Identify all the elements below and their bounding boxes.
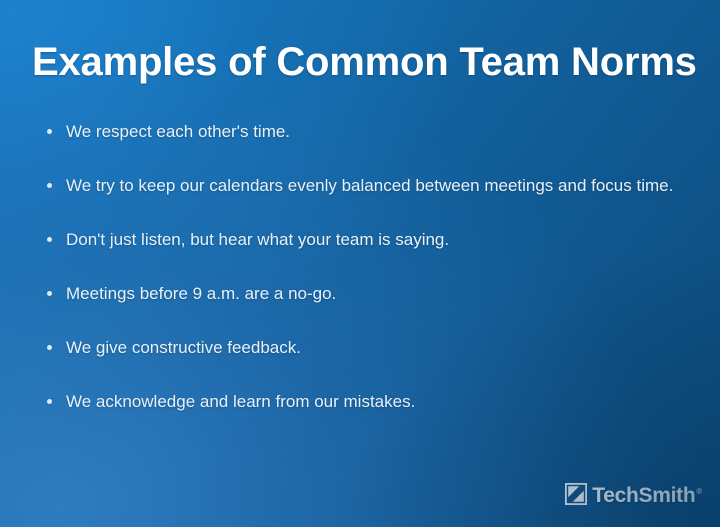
list-item: We try to keep our calendars evenly bala…	[44, 172, 699, 200]
page-title: Examples of Common Team Norms	[32, 40, 697, 85]
list-item-label: Don't just listen, but hear what your te…	[66, 226, 699, 254]
list-item: We respect each other's time.	[44, 118, 699, 146]
list-item-label: We acknowledge and learn from our mistak…	[66, 388, 699, 416]
list-item-label: We try to keep our calendars evenly bala…	[66, 172, 699, 200]
list-item: Don't just listen, but hear what your te…	[44, 226, 699, 254]
bullet-dot-icon	[47, 129, 52, 134]
list-item-label: We give constructive feedback.	[66, 334, 699, 362]
techsmith-logo: TechSmith®	[565, 481, 702, 507]
list-item-label: We respect each other's time.	[66, 118, 699, 146]
techsmith-wordmark: TechSmith®	[592, 481, 702, 507]
list-item: Meetings before 9 a.m. are a no-go.	[44, 280, 699, 308]
registered-trademark-icon: ®	[696, 487, 702, 496]
bullet-dot-icon	[47, 237, 52, 242]
bullet-dot-icon	[47, 183, 52, 188]
list-item: We give constructive feedback.	[44, 334, 699, 362]
bullet-dot-icon	[47, 399, 52, 404]
techsmith-wordmark-text: TechSmith	[592, 484, 695, 507]
list-item-label: Meetings before 9 a.m. are a no-go.	[66, 280, 699, 308]
bullet-dot-icon	[47, 291, 52, 296]
bullet-list: We respect each other's time. We try to …	[44, 118, 699, 416]
techsmith-mark-icon	[565, 483, 587, 505]
bullet-dot-icon	[47, 345, 52, 350]
list-item: We acknowledge and learn from our mistak…	[44, 388, 699, 416]
slide-canvas: Examples of Common Team Norms We respect…	[0, 0, 720, 527]
